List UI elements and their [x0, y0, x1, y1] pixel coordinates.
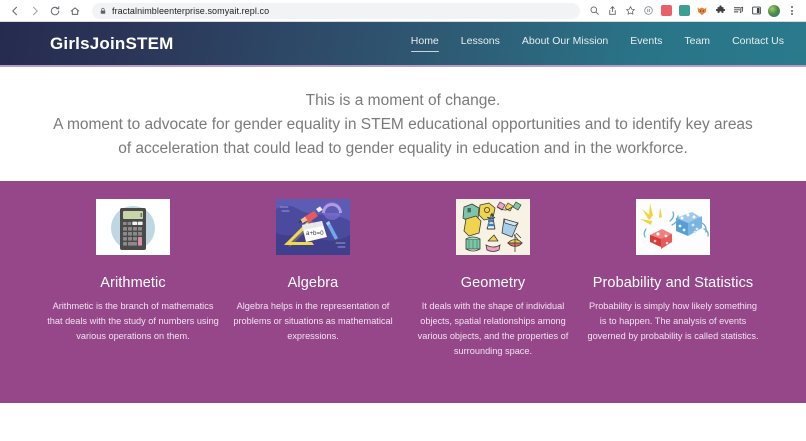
nav-item-lessons[interactable]: Lessons [461, 35, 500, 52]
nav-item-about-our-mission[interactable]: About Our Mission [522, 35, 608, 52]
hero-line-1: This is a moment of change. [48, 89, 758, 113]
card-description: Arithmetic is the branch of mathematics … [47, 299, 219, 344]
card-description: Algebra helps in the representation of p… [227, 299, 399, 344]
rolling-dice-illustration [636, 199, 710, 255]
share-icon[interactable] [603, 2, 621, 20]
calculator-illustration [96, 199, 170, 255]
site-logo[interactable]: GirlsJoinSTEM [50, 34, 174, 54]
hero-text: This is a moment of change.A moment to a… [48, 89, 758, 161]
subject-card-algebra[interactable]: a+b=0 Algebra Algebra helps in the repre… [223, 199, 403, 344]
extension-fox-icon[interactable] [693, 2, 711, 20]
extension-puzzle-icon[interactable] [711, 2, 729, 20]
algebra-stationery-illustration: a+b=0 [276, 199, 350, 255]
pause-circle-icon[interactable] [639, 2, 657, 20]
browser-action-icons [585, 2, 801, 20]
main-navigation: Home Lessons About Our Mission Events Te… [411, 35, 784, 52]
profile-avatar[interactable] [765, 2, 783, 20]
nav-item-team[interactable]: Team [684, 35, 710, 52]
card-description: It deals with the shape of individual ob… [407, 299, 579, 359]
home-icon[interactable] [65, 2, 85, 20]
back-arrow-icon[interactable] [5, 2, 25, 20]
lock-icon [99, 7, 107, 15]
subject-card-arithmetic[interactable]: Arithmetic Arithmetic is the branch of m… [43, 199, 223, 344]
nav-item-contact-us[interactable]: Contact Us [732, 35, 784, 52]
split-screen-icon[interactable] [747, 2, 765, 20]
nav-item-events[interactable]: Events [630, 35, 662, 52]
card-title: Geometry [461, 274, 525, 292]
subjects-section: Arithmetic Arithmetic is the branch of m… [0, 181, 806, 403]
geometric-solids-illustration [456, 199, 530, 255]
card-description: Probability is simply how likely somethi… [587, 299, 759, 344]
search-icon[interactable] [585, 2, 603, 20]
card-title: Algebra [288, 274, 339, 292]
subject-card-geometry[interactable]: Geometry It deals with the shape of indi… [403, 199, 583, 359]
url-text: fractalnimbleenterprise.somyait.repl.co [112, 6, 269, 16]
address-bar[interactable]: fractalnimbleenterprise.somyait.repl.co [92, 3, 580, 19]
extension-teal-icon[interactable] [675, 2, 693, 20]
reading-list-icon[interactable] [729, 2, 747, 20]
hero-section: This is a moment of change.A moment to a… [0, 67, 806, 181]
nav-item-home[interactable]: Home [411, 35, 439, 52]
extension-red-icon[interactable] [657, 2, 675, 20]
hero-line-2: A moment to advocate for gender equality… [53, 116, 753, 157]
card-title: Probability and Statistics [593, 274, 754, 292]
reload-icon[interactable] [45, 2, 65, 20]
kebab-menu-icon[interactable] [783, 2, 801, 20]
subject-card-probability-and-statistics[interactable]: Probability and Statistics Probability i… [583, 199, 763, 344]
bookmark-star-icon[interactable] [621, 2, 639, 20]
card-title: Arithmetic [100, 274, 165, 292]
forward-arrow-icon[interactable] [25, 2, 45, 20]
site-header: GirlsJoinSTEM Home Lessons About Our Mis… [0, 22, 806, 67]
browser-toolbar: fractalnimbleenterprise.somyait.repl.co [0, 0, 806, 22]
svg-text:a+b=0: a+b=0 [306, 230, 324, 237]
